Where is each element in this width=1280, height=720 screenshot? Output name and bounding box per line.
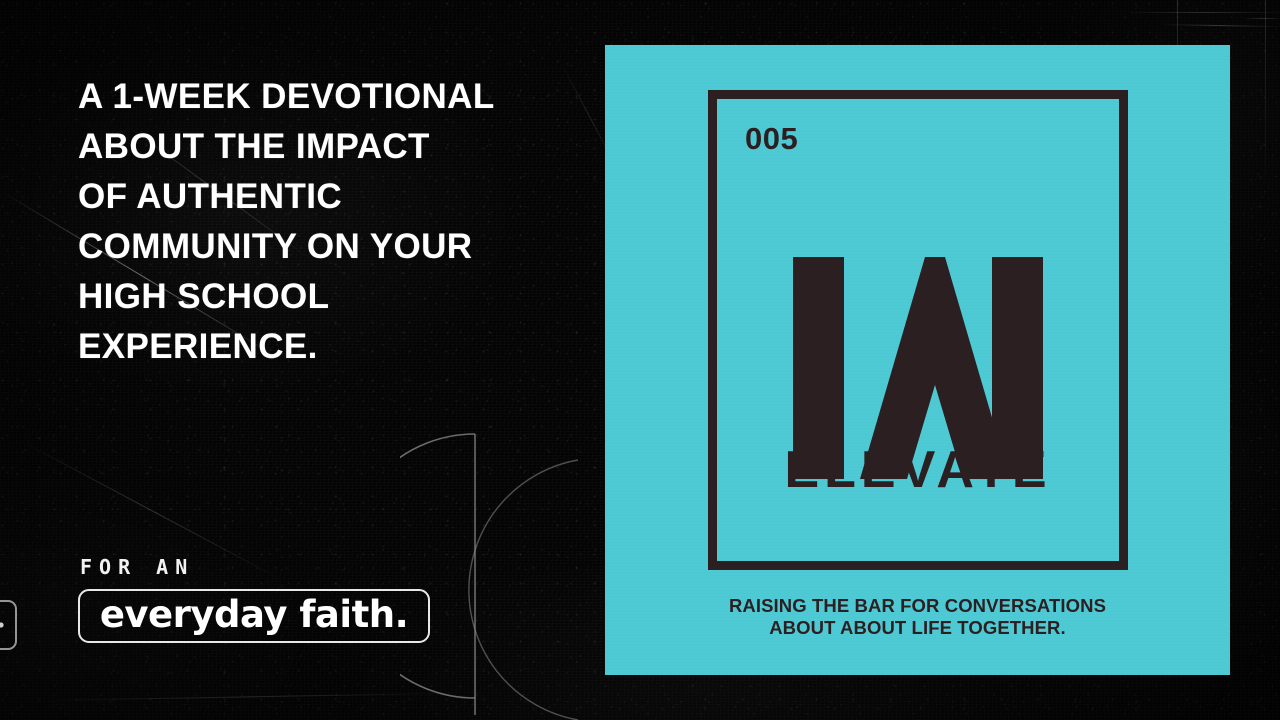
brand-lockup: FOR AN everyday faith.: [78, 555, 430, 643]
headline-line-3: OF AUTHENTIC: [78, 172, 548, 222]
headline-line-4: COMMUNITY ON YOUR: [78, 222, 548, 272]
headline-line-1: A 1-WEEK DEVOTIONAL: [78, 72, 548, 122]
card-wordmark: ELEVATE: [717, 444, 1119, 496]
corner-tick-icon: [0, 597, 26, 653]
card-tagline-line-1: RAISING THE BAR FOR CONVERSATIONS: [605, 595, 1230, 617]
elevate-card: 005 ELEVATE RAISING THE BAR FOR CONVERSA…: [605, 45, 1230, 675]
registration-hairline: [1130, 12, 1280, 13]
lockup-kicker: FOR AN: [80, 555, 430, 579]
headline-line-5: HIGH SCHOOL: [78, 272, 548, 322]
headline: A 1-WEEK DEVOTIONAL ABOUT THE IMPACT OF …: [78, 72, 548, 372]
card-number: 005: [745, 121, 798, 157]
registration-hairline: [1265, 0, 1266, 175]
registration-hairline: [1245, 18, 1280, 19]
card-tagline-line-2: ABOUT ABOUT LIFE TOGETHER.: [605, 617, 1230, 639]
headline-line-2: ABOUT THE IMPACT: [78, 122, 548, 172]
headline-line-6: EXPERIENCE.: [78, 322, 548, 372]
slide-canvas: A 1-WEEK DEVOTIONAL ABOUT THE IMPACT OF …: [0, 0, 1280, 720]
lockup-wordmark-box: everyday faith.: [78, 589, 430, 643]
lockup-wordmark: everyday faith.: [100, 596, 408, 633]
card-frame-border: 005 ELEVATE: [708, 90, 1128, 570]
card-tagline: RAISING THE BAR FOR CONVERSATIONS ABOUT …: [605, 595, 1230, 639]
scratch-line: [40, 693, 460, 701]
